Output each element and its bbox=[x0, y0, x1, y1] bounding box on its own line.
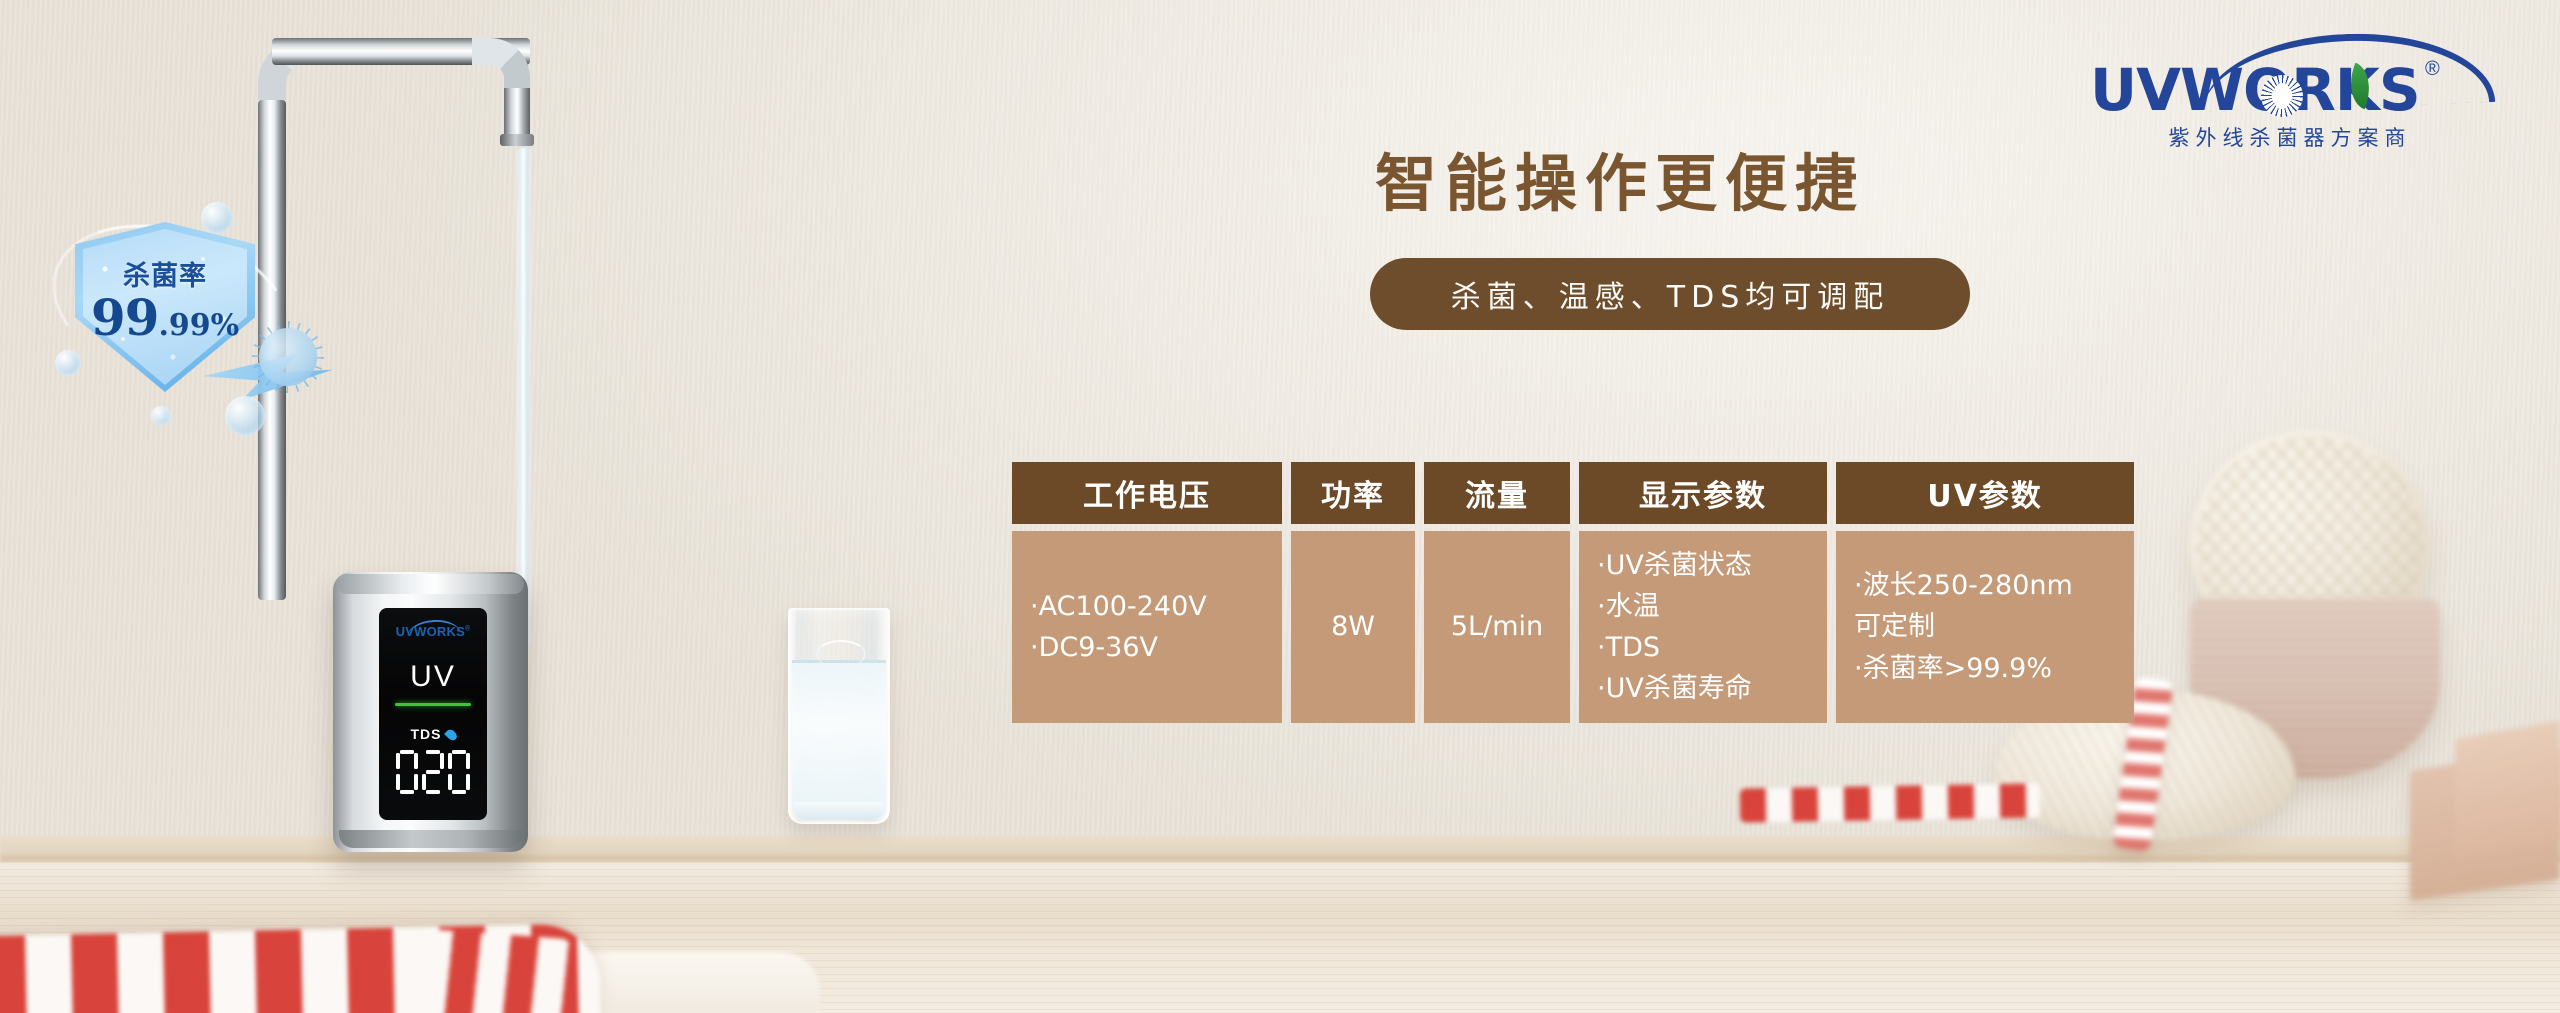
spec-line: ·AC100-240V bbox=[1030, 586, 1264, 627]
device-tds-row: TDS bbox=[379, 726, 487, 742]
spec-header-uv: UV参数 bbox=[1836, 462, 2134, 524]
promo-banner: UVWORKS® UV TDS 杀菌率 99.99% bbox=[0, 0, 2560, 1013]
checkered-cloth-fold bbox=[417, 929, 573, 1013]
subtitle-pill: 杀菌、温感、TDS均可调配 bbox=[1370, 258, 1970, 330]
spec-header-voltage: 工作电压 bbox=[1012, 462, 1282, 524]
segment-digit-0 bbox=[396, 750, 418, 794]
spec-line: ·杀菌率>99.9% bbox=[1854, 648, 2116, 689]
counter-edge bbox=[0, 856, 2560, 864]
spec-header-flow: 流量 bbox=[1424, 462, 1570, 524]
device-mode-label: UV bbox=[379, 660, 487, 694]
spec-body-voltage: ·AC100-240V ·DC9-36V bbox=[1012, 531, 1282, 723]
spec-line: 5L/min bbox=[1451, 606, 1543, 647]
brand-subtitle: 紫外线杀菌器方案商 bbox=[2094, 122, 2486, 152]
bubble-icon-4 bbox=[151, 406, 171, 426]
spec-body-uv: ·波长250-280nm 可定制 ·杀菌率>99.9% bbox=[1836, 531, 2134, 723]
device-tds-value-row bbox=[379, 750, 487, 804]
badge-value-main: 99 bbox=[91, 288, 159, 347]
brand-registered-mark: ® bbox=[2425, 58, 2440, 81]
device-base bbox=[339, 830, 522, 848]
brand-logo: UVWORKS ® 紫外线杀菌器方案商 bbox=[2090, 32, 2490, 147]
spec-line: ·波长250-280nm bbox=[1854, 565, 2116, 606]
bubble-icon-1 bbox=[201, 202, 233, 234]
device-brand-text: UVWORKS bbox=[396, 624, 465, 639]
wood-tile-secondary-icon bbox=[2455, 721, 2560, 860]
sterilization-rate-badge: 杀菌率 99.99% bbox=[35, 200, 325, 430]
device-top-cap bbox=[337, 574, 524, 594]
spec-line: 可定制 bbox=[1854, 606, 2116, 647]
page-title: 智能操作更便捷 bbox=[1375, 133, 1865, 223]
water-splash-icon bbox=[816, 640, 866, 668]
badge-value: 99.99% bbox=[75, 288, 255, 347]
water-stream bbox=[516, 148, 531, 648]
segment-digit-2 bbox=[422, 750, 444, 794]
water-drop-icon bbox=[444, 728, 459, 743]
glass-water-fill bbox=[792, 660, 886, 820]
spec-body-power: 8W bbox=[1291, 531, 1415, 723]
device-tds-label: TDS bbox=[411, 726, 442, 742]
subtitle-pill-label: 杀菌、温感、TDS均可调配 bbox=[1451, 272, 1889, 316]
device-brand-registered: ® bbox=[465, 626, 470, 633]
glass-base bbox=[794, 802, 884, 820]
spec-line: ·水温 bbox=[1597, 586, 1809, 627]
uv-sterilizer-device: UVWORKS® UV TDS bbox=[333, 572, 528, 852]
spec-header-power: 功率 bbox=[1291, 462, 1415, 524]
spec-body-display: ·UV杀菌状态 ·水温 ·TDS ·UV杀菌寿命 bbox=[1579, 531, 1827, 723]
badge-value-decimal: .99% bbox=[158, 308, 239, 343]
spec-line: ·UV杀菌寿命 bbox=[1597, 668, 1809, 709]
sun-burst-icon bbox=[2261, 75, 2303, 117]
bubble-icon-3 bbox=[225, 396, 265, 436]
spec-line: ·DC9-36V bbox=[1030, 627, 1264, 668]
checkered-cloth-right bbox=[1740, 783, 2041, 822]
spec-line: ·UV杀菌状态 bbox=[1597, 545, 1809, 586]
segment-digit-0b bbox=[448, 750, 470, 794]
spec-column-flow: 流量 5L/min bbox=[1424, 462, 1570, 723]
seven-segment-display bbox=[396, 750, 470, 794]
spec-header-display: 显示参数 bbox=[1579, 462, 1827, 524]
device-brand-logo: UVWORKS® bbox=[379, 624, 487, 639]
spec-column-uv: UV参数 ·波长250-280nm 可定制 ·杀菌率>99.9% bbox=[1836, 462, 2134, 723]
spec-body-flow: 5L/min bbox=[1424, 531, 1570, 723]
water-glass bbox=[788, 608, 890, 824]
spec-column-power: 功率 8W bbox=[1291, 462, 1415, 723]
spec-line: ·TDS bbox=[1597, 627, 1809, 668]
bubble-icon-2 bbox=[55, 350, 81, 376]
spec-column-voltage: 工作电压 ·AC100-240V ·DC9-36V bbox=[1012, 462, 1282, 723]
germ-icon bbox=[259, 328, 317, 386]
device-display-screen: UVWORKS® UV TDS bbox=[379, 608, 487, 820]
device-status-bar bbox=[395, 703, 471, 706]
spec-line: 8W bbox=[1331, 606, 1375, 647]
spec-table: 工作电压 ·AC100-240V ·DC9-36V 功率 8W 流量 5L/mi… bbox=[1012, 462, 2134, 723]
spec-column-display: 显示参数 ·UV杀菌状态 ·水温 ·TDS ·UV杀菌寿命 bbox=[1579, 462, 1827, 723]
